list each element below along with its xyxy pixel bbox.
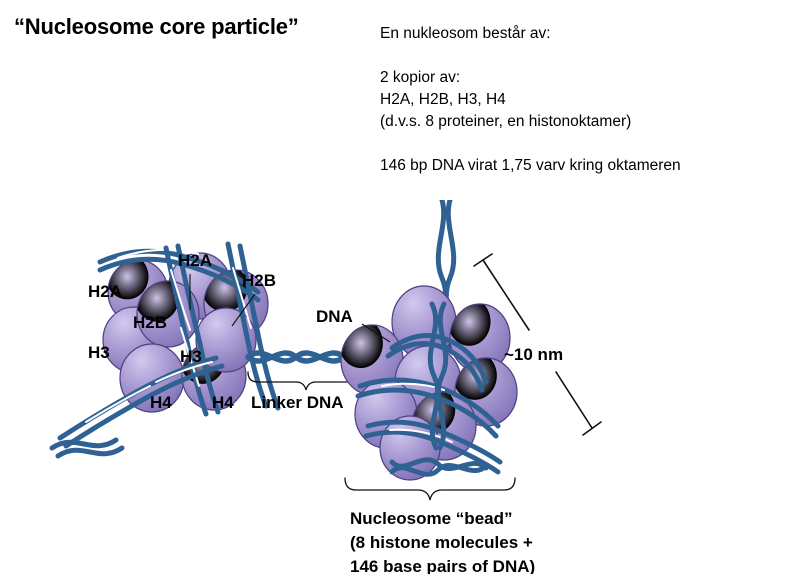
nucleosome-bead-brace	[345, 478, 515, 500]
notes-line-4: (d.v.s. 8 proteiner, en histonoktamer)	[380, 114, 681, 136]
caption-line-1: Nucleosome “bead”	[350, 509, 513, 528]
notes-line-2: 2 kopior av:	[380, 70, 681, 92]
notes-line-1: En nukleosom består av:	[380, 26, 681, 48]
label-h3-right: H3	[180, 347, 202, 366]
notes-line-5: 146 bp DNA virat 1,75 varv kring oktamer…	[380, 158, 681, 180]
label-dna: DNA	[316, 307, 353, 326]
label-linker-dna: Linker DNA	[251, 393, 344, 412]
label-h2a-outer: H2A	[88, 282, 122, 301]
label-h4-left: H4	[150, 393, 172, 412]
label-h3-left: H3	[88, 343, 110, 362]
notes-block: En nukleosom består av: 2 kopior av: H2A…	[380, 26, 681, 180]
label-h4-right: H4	[212, 393, 234, 412]
page-title: “Nucleosome core particle”	[14, 14, 299, 40]
dna-tail-bottom-left	[52, 440, 122, 456]
notes-spacer-1	[380, 48, 681, 70]
bead-caption: Nucleosome “bead” (8 histone molecules +…	[350, 509, 535, 574]
label-scale: ~10 nm	[504, 345, 563, 364]
right-nucleosome-bead: DNA	[316, 200, 517, 480]
caption-line-3: 146 base pairs of DNA)	[350, 557, 535, 574]
label-h2a-callout: H2A	[178, 251, 212, 270]
slide-canvas: “Nucleosome core particle” En nukleosom …	[0, 0, 802, 574]
label-h2b-inner: H2B	[133, 313, 167, 332]
notes-line-3: H2A, H2B, H3, H4	[380, 92, 681, 114]
notes-spacer-2	[380, 136, 681, 158]
nucleosome-diagram: H2A H2B H3 H3 H4 H4 H2A H2A H2B	[0, 200, 802, 574]
label-h2b-callout: H2B	[242, 271, 276, 290]
caption-line-2: (8 histone molecules +	[350, 533, 533, 552]
